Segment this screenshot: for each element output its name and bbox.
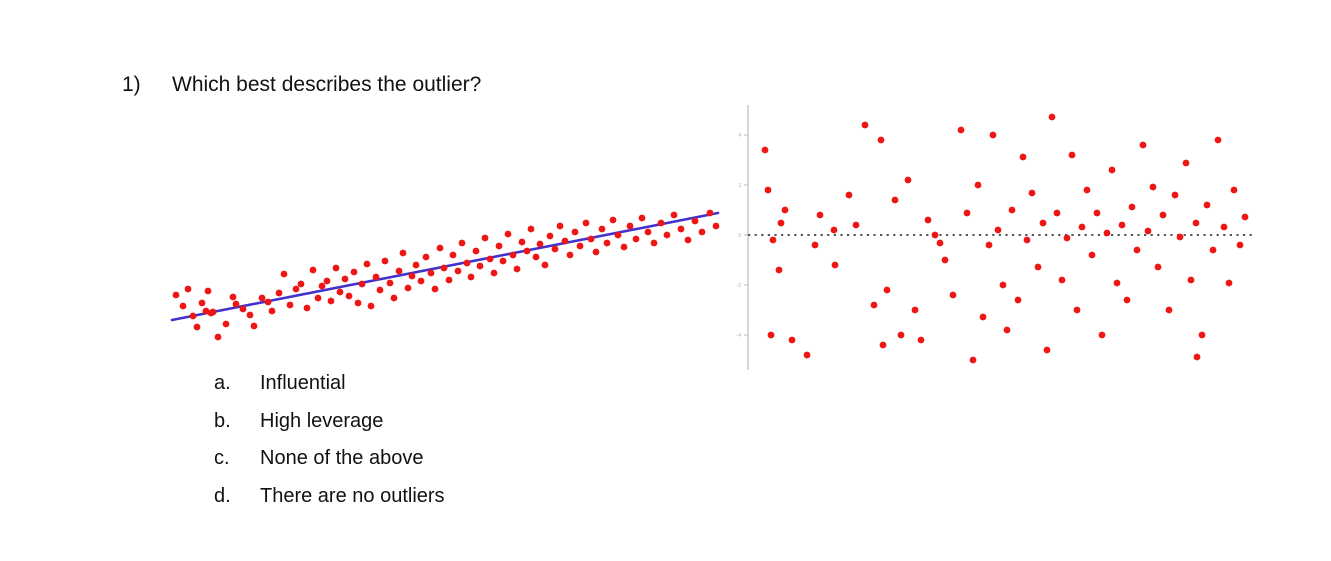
answer-option-c-letter: c. [214,447,260,470]
answer-option-c[interactable]: c. None of the above [214,447,445,485]
answer-option-a-label: Influential [260,372,346,395]
answer-option-b-label: High leverage [260,410,383,433]
answer-option-d-letter: d. [214,485,260,508]
svg-text:-4: -4 [737,333,742,339]
residual-plot: 420-2-4 [735,95,1275,390]
question-row: 1) Which best describes the outlier? [122,74,481,95]
scatter-plot-with-regression-line [150,185,750,360]
answer-option-a-letter: a. [214,372,260,395]
question-number: 1) [122,74,172,95]
slide: 1) Which best describes the outlier? 420… [0,0,1331,561]
answer-option-c-label: None of the above [260,447,423,470]
svg-text:0: 0 [738,233,741,239]
answer-option-a[interactable]: a. Influential [214,372,445,410]
answer-option-b-letter: b. [214,410,260,433]
page-title: Which best describes the outlier? [172,74,481,95]
answer-option-d[interactable]: d. There are no outliers [214,485,445,523]
answer-option-d-label: There are no outliers [260,485,445,508]
svg-text:-2: -2 [737,283,742,289]
svg-text:4: 4 [738,133,741,139]
answer-options-list: a. Influential b. High leverage c. None … [214,372,445,522]
answer-option-b[interactable]: b. High leverage [214,410,445,448]
svg-text:2: 2 [738,183,741,189]
